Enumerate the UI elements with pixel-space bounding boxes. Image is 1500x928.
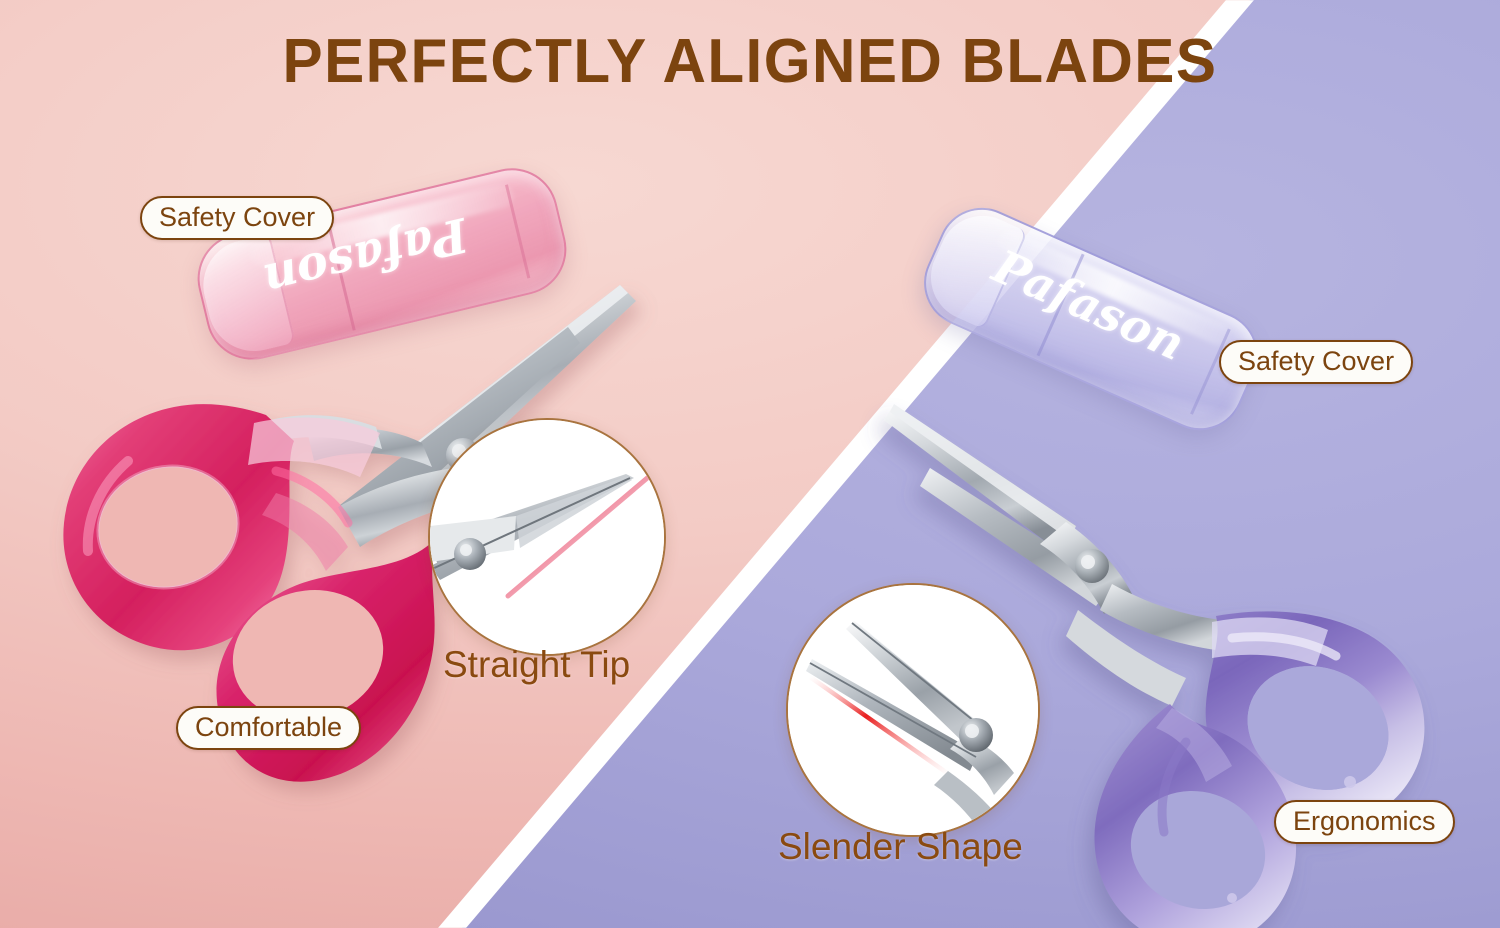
label-ergonomics: Ergonomics bbox=[1274, 800, 1455, 844]
product-infographic: PERFECTLY ALIGNED BLADES bbox=[0, 0, 1500, 928]
page-title: PERFECTLY ALIGNED BLADES bbox=[23, 26, 1478, 97]
label-safety-cover-right: Safety Cover bbox=[1219, 340, 1413, 384]
slender-shape-inset bbox=[786, 583, 1040, 837]
caption-straight-tip: Straight Tip bbox=[443, 644, 630, 686]
caption-slender-shape: Slender Shape bbox=[778, 826, 1023, 868]
label-safety-cover-left: Safety Cover bbox=[140, 196, 334, 240]
straight-tip-inset bbox=[428, 418, 666, 656]
label-comfortable: Comfortable bbox=[176, 706, 361, 750]
